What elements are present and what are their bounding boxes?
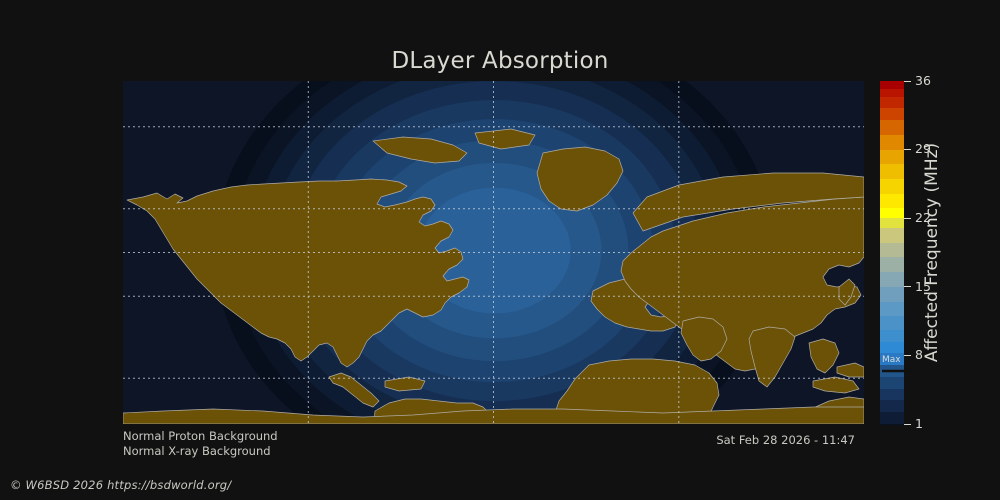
colorbar-band-36 [880, 81, 904, 89]
page-title: DLayer Absorption [0, 48, 1000, 74]
colorbar-tick-dash [904, 149, 911, 150]
colorbar-band-19.5 [880, 243, 904, 258]
colorbar-band-29 [880, 150, 904, 165]
colorbar-band-27.5 [880, 164, 904, 179]
colorbar-band-2.2 [880, 412, 904, 424]
copyright-label: © W6BSD 2026 https://bsdworld.org/ [10, 478, 231, 492]
colorbar-band-13.4 [880, 302, 904, 316]
colorbar-band-9.4 [880, 342, 904, 354]
colorbar-band-30.5 [880, 135, 904, 150]
timestamp-label: Sat Feb 28 2026 - 11:47 [0, 433, 855, 447]
colorbar-band-24.5 [880, 194, 904, 209]
colorbar-band-10.6 [880, 330, 904, 342]
colorbar-tick-dash [904, 286, 911, 287]
world-map-svg [123, 81, 864, 424]
colorbar-band-12 [880, 316, 904, 330]
colorbar-band-7 [880, 365, 904, 377]
colorbar-band-1 [880, 424, 904, 425]
colorbar-tick-dash [904, 218, 911, 219]
colorbar-band-35.2 [880, 89, 904, 97]
dlayer-absorption-page: DLayer Absorption [0, 0, 1000, 500]
colorbar-band-26 [880, 179, 904, 194]
colorbar-band-5.8 [880, 377, 904, 389]
colorbar-band-34.4 [880, 97, 904, 109]
colorbar-band-16.5 [880, 272, 904, 287]
colorbar-band-33.2 [880, 108, 904, 120]
colorbar-band-22 [880, 218, 904, 228]
colorbar[interactable]: 1815222936 [880, 81, 904, 424]
colorbar-band-18 [880, 257, 904, 272]
colorbar-tick-dash [904, 424, 911, 425]
colorbar-axis-label: Affected Frequency (MHz) [920, 81, 944, 424]
colorbar-band-4.6 [880, 389, 904, 401]
colorbar-band-32 [880, 120, 904, 135]
colorbar-band-21 [880, 228, 904, 243]
colorbar-band-8.2 [880, 353, 904, 365]
colorbar-band-3.4 [880, 400, 904, 412]
world-map-panel[interactable] [123, 81, 864, 424]
colorbar-gradient [880, 81, 904, 424]
colorbar-tick-dash [904, 81, 911, 82]
colorbar-band-15 [880, 287, 904, 303]
colorbar-tick-dash [904, 355, 911, 356]
colorbar-band-23 [880, 208, 904, 218]
